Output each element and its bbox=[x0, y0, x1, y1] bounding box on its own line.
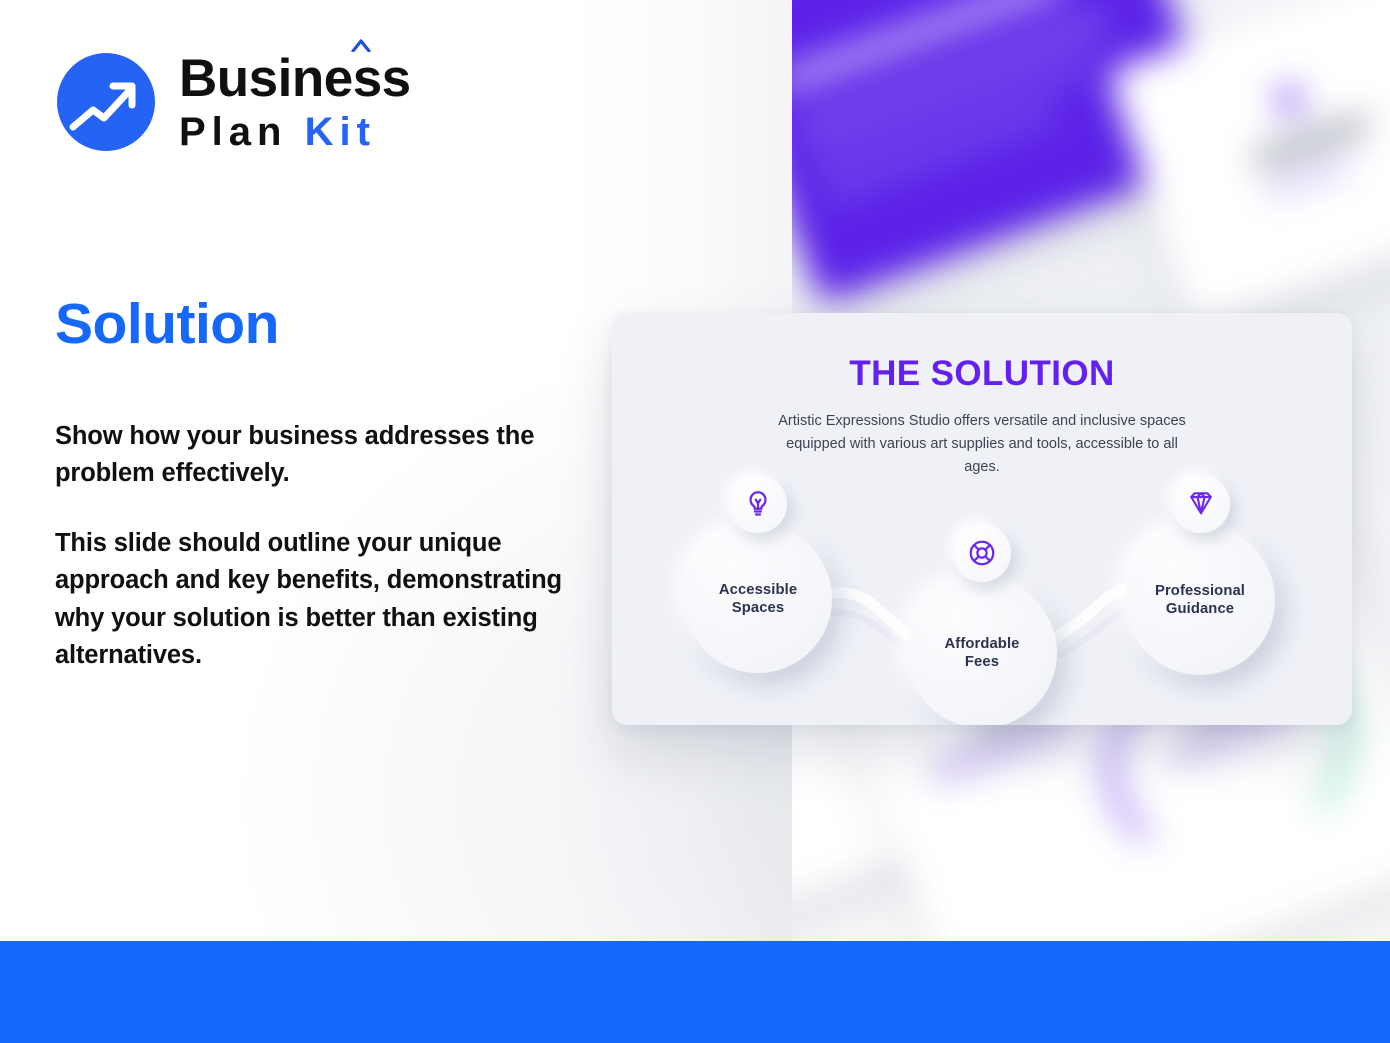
node-label-line2: Guidance bbox=[1166, 601, 1234, 617]
brand-name-line1: Business bbox=[179, 52, 411, 105]
body-copy: Show how your business addresses the pro… bbox=[55, 418, 575, 675]
brand-name-plan: Plan bbox=[179, 110, 287, 154]
lifebuoy-icon bbox=[953, 524, 1011, 582]
brand-name-line1-text: Business bbox=[179, 49, 411, 108]
node-label-accessible-spaces: Accessible Spaces bbox=[719, 581, 797, 618]
node-accessible-spaces[interactable]: Accessible Spaces bbox=[684, 525, 832, 673]
footer-band bbox=[0, 941, 1390, 1043]
solution-card: THE SOLUTION Artistic Expressions Studio… bbox=[612, 313, 1352, 725]
circumflex-accent-icon bbox=[351, 39, 371, 52]
brand-name-line2: Plan Kit bbox=[179, 112, 411, 152]
brand-logo[interactable]: Business Plan Kit bbox=[57, 52, 411, 152]
growth-chart-circle-icon bbox=[57, 53, 155, 151]
body-paragraph-1: Show how your business addresses the pro… bbox=[55, 418, 575, 493]
body-paragraph-2: This slide should outline your unique ap… bbox=[55, 525, 575, 675]
node-professional-guidance[interactable]: Professional Guidance bbox=[1125, 525, 1275, 675]
node-label-line1: Professional bbox=[1155, 583, 1245, 599]
node-label-affordable-fees: Affordable Fees bbox=[945, 635, 1020, 672]
node-affordable-fees[interactable]: Affordable Fees bbox=[907, 578, 1057, 725]
slide-root: Business Plan Kit Solution Show how your… bbox=[0, 0, 1390, 1043]
lightbulb-icon bbox=[729, 475, 787, 533]
page-title: Solution bbox=[55, 296, 279, 353]
node-label-line1: Affordable bbox=[945, 636, 1020, 652]
brand-wordmark: Business Plan Kit bbox=[179, 52, 411, 152]
node-label-professional-guidance: Professional Guidance bbox=[1155, 582, 1245, 619]
node-label-line1: Accessible bbox=[719, 582, 797, 598]
node-label-line2: Fees bbox=[965, 654, 999, 670]
brand-name-kit: Kit bbox=[305, 110, 376, 154]
diamond-icon bbox=[1172, 475, 1230, 533]
node-label-line2: Spaces bbox=[732, 600, 784, 616]
